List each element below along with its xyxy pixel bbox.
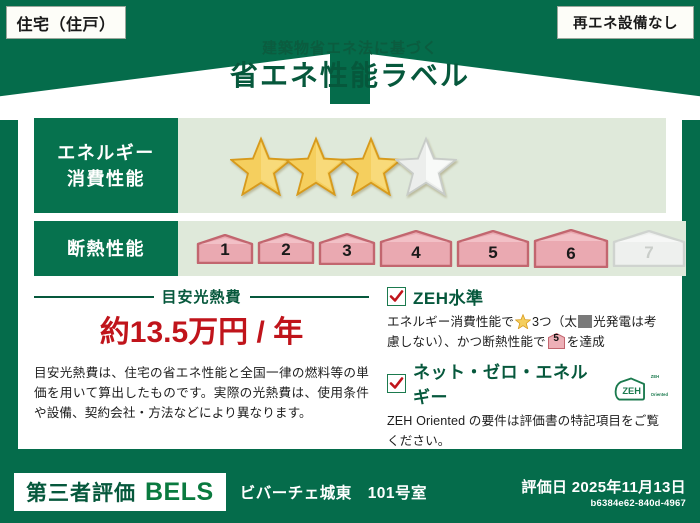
property-name: ビバーチェ城東 101号室 (240, 481, 427, 503)
zeh-body-part2: 3つ（太 (532, 315, 577, 329)
insulation-level-value: 3 (342, 241, 351, 265)
heading-rule-left (34, 296, 154, 298)
zeh-standard-block: ZEH水準 エネルギー消費性能で 3つ（太光発電は考慮しない）、かつ断熱性能で … (387, 284, 668, 352)
zeh-house-icon: ZEH (613, 377, 649, 401)
page-title: 省エネ性能ラベル (0, 59, 700, 93)
check-icon (389, 289, 404, 304)
utility-cost-value: 約13.5万円 / 年 (34, 315, 369, 351)
label-body-card: エネルギー 消費性能 (18, 104, 682, 449)
evaluation-info: 評価日 2025年11月13日 b6384e62-840d-4967 (521, 476, 686, 509)
insulation-level-value: 5 (488, 243, 497, 267)
building-type-tag: 住宅（住戸） (6, 6, 126, 39)
zeh-standard-header: ZEH水準 (387, 284, 668, 309)
insulation-level-scale: 1234567 (178, 221, 686, 276)
energy-label-line1: エネルギー (57, 140, 155, 166)
insulation-performance-row: 断熱性能 1234567 (34, 221, 666, 276)
utility-cost-heading: 目安光熱費 (34, 286, 369, 307)
bels-jp-label: 第三者評価 (26, 477, 136, 507)
inline-star-icon (515, 314, 531, 329)
evaluation-date: 評価日 2025年11月13日 (521, 476, 686, 497)
net-zero-body: ZEH Oriented の要件は評価書の特記項目をご覧ください。 (387, 411, 668, 451)
zeh-column: ZEH水準 エネルギー消費性能で 3つ（太光発電は考慮しない）、かつ断熱性能で … (379, 284, 668, 436)
zeh-standard-body: エネルギー消費性能で 3つ（太光発電は考慮しない）、かつ断熱性能で 5 を達成 (387, 312, 668, 352)
insulation-label: 断熱性能 (67, 238, 145, 260)
zeh-logo-sub2: Oriented (651, 392, 668, 397)
insulation-level-value: 4 (411, 243, 420, 267)
star-filled-icon (230, 136, 292, 196)
utility-cost-note: 目安光熱費は、住宅の省エネ性能と全国一律の燃料等の単価を用いて算出したものです。… (34, 363, 369, 423)
net-zero-title: ネット・ゼロ・エネルギー (413, 358, 603, 408)
insulation-level-value: 2 (281, 240, 290, 264)
zeh-logo-sub1: ZEH (651, 374, 659, 379)
insulation-level-6: 6 (533, 229, 609, 268)
zeh-standard-checkbox[interactable] (387, 287, 406, 306)
insulation-level-value: 6 (566, 244, 575, 268)
title-subtitle: 建築物省エネ法に基づく (0, 40, 700, 58)
redacted-character (578, 315, 592, 328)
energy-label-line2: 消費性能 (67, 166, 145, 192)
net-zero-header: ネット・ゼロ・エネルギー ZEH ZEH Oriented (387, 358, 668, 408)
insulation-level-7: 7 (612, 230, 686, 267)
net-zero-block: ネット・ゼロ・エネルギー ZEH ZEH Oriented (387, 358, 668, 451)
lower-section: 目安光熱費 約13.5万円 / 年 目安光熱費は、住宅の省エネ性能と全国一律の燃… (34, 284, 668, 436)
insulation-performance-label-cell: 断熱性能 (34, 221, 178, 276)
heading-rule-right (250, 296, 370, 298)
zeh-body-part1: エネルギー消費性能で (387, 315, 514, 329)
label-title-block: 建築物省エネ法に基づく 省エネ性能ラベル (0, 40, 700, 93)
energy-performance-label: 住宅（住戸） 再エネ設備なし 建築物省エネ法に基づく 省エネ性能ラベル エネルギ… (0, 0, 700, 523)
inline-insulation-badge: 5 (548, 333, 565, 349)
renewable-equipment-tag: 再エネ設備なし (557, 6, 694, 39)
insulation-level-3: 3 (318, 233, 376, 265)
net-zero-checkbox[interactable] (387, 374, 406, 393)
insulation-level-value: 7 (644, 243, 653, 267)
zeh-body-part4: を達成 (567, 335, 605, 349)
zeh-logo: ZEH ZEH Oriented (613, 365, 668, 401)
insulation-level-1: 1 (196, 234, 254, 264)
insulation-level-value: 1 (220, 240, 229, 264)
utility-cost-column: 目安光熱費 約13.5万円 / 年 目安光熱費は、住宅の省エネ性能と全国一律の燃… (34, 284, 379, 436)
star-filled-icon (340, 136, 402, 196)
star-rating (178, 118, 666, 213)
insulation-level-2: 2 (257, 233, 315, 264)
utility-cost-heading-text: 目安光熱費 (162, 286, 242, 307)
zeh-standard-title: ZEH水準 (413, 284, 484, 309)
check-icon (389, 376, 404, 391)
svg-text:ZEH: ZEH (622, 386, 641, 396)
insulation-level-5: 5 (456, 230, 530, 267)
bels-badge: 第三者評価 BELS (14, 473, 226, 511)
label-id: b6384e62-840d-4967 (521, 498, 686, 509)
star-empty-icon (395, 136, 457, 196)
inline-badge-value: 5 (548, 329, 565, 349)
insulation-level-4: 4 (379, 230, 453, 267)
bels-en-label: BELS (145, 478, 214, 507)
bottom-bar: 第三者評価 BELS ビバーチェ城東 101号室 評価日 2025年11月13日… (0, 461, 700, 523)
energy-performance-row: エネルギー 消費性能 (34, 118, 666, 213)
energy-performance-label-cell: エネルギー 消費性能 (34, 118, 178, 213)
star-filled-icon (285, 136, 347, 196)
